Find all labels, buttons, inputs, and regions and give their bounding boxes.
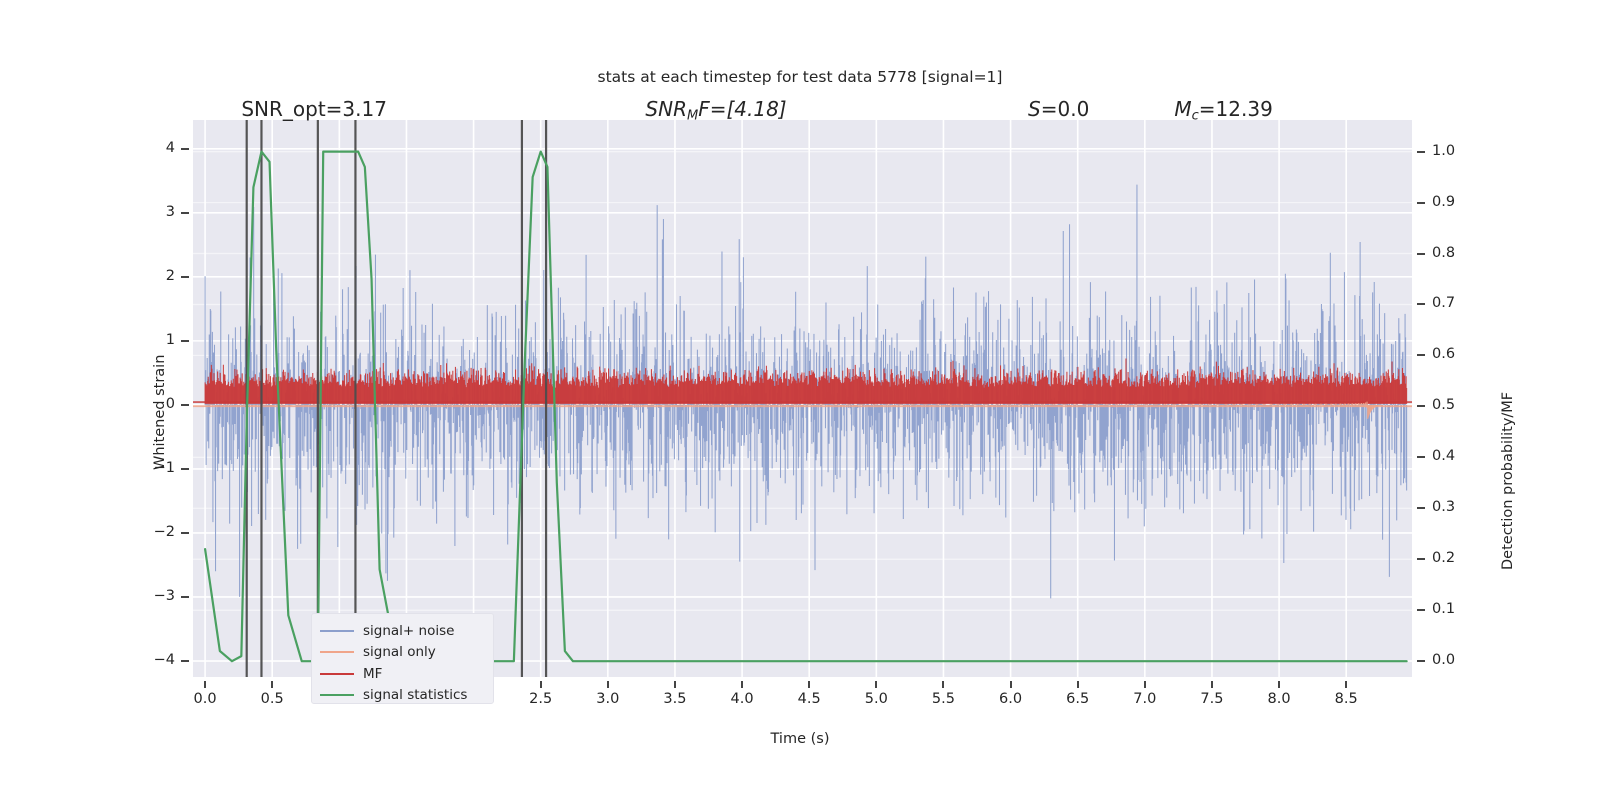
tick-mark	[181, 468, 189, 470]
annotation-snr-mf-prefix: SNR	[645, 97, 687, 121]
y-tick-label-right: 0.1	[1432, 601, 1472, 617]
tick-mark	[1417, 660, 1425, 662]
x-tick-label: 4.0	[717, 691, 767, 707]
annotation-s: S=0.0	[1028, 97, 1089, 121]
legend-swatch-signal-only	[320, 651, 354, 653]
annotation-mc-prefix: M	[1174, 97, 1191, 121]
tick-mark	[674, 681, 676, 688]
tick-mark	[181, 404, 189, 406]
y-tick-label-right: 0.8	[1432, 245, 1472, 261]
x-tick-label: 8.0	[1254, 691, 1304, 707]
tick-mark	[540, 681, 542, 688]
tick-mark	[1417, 202, 1425, 204]
plot-axes	[193, 120, 1412, 677]
data-layer	[193, 120, 1412, 677]
tick-mark	[181, 532, 189, 534]
tick-mark	[1417, 303, 1425, 305]
y-tick-label-right: 0.2	[1432, 550, 1472, 566]
tick-mark	[181, 276, 189, 278]
figure-root: stats at each timestep for test data 577…	[0, 0, 1600, 800]
tick-mark	[181, 340, 189, 342]
y-axis-label-left: Whitened strain	[152, 355, 168, 470]
annotation-snr-mf: SNRMF=[4.18]	[645, 97, 786, 124]
tick-mark	[204, 681, 206, 688]
tick-mark	[1278, 681, 1280, 688]
x-tick-label: 3.0	[583, 691, 633, 707]
x-tick-label: 0.0	[180, 691, 230, 707]
tick-mark	[875, 681, 877, 688]
legend-item: MF	[320, 663, 485, 685]
legend-label: signal+ noise	[363, 623, 454, 639]
annotation-mc-subscript: c	[1192, 109, 1199, 124]
tick-mark	[1211, 681, 1213, 688]
y-tick-label-left: −1	[141, 460, 175, 476]
x-tick-label: 0.5	[247, 691, 297, 707]
tick-mark	[1010, 681, 1012, 688]
legend-label: MF	[363, 666, 382, 682]
y-tick-label-left: 2	[141, 268, 175, 284]
x-tick-label: 5.0	[851, 691, 901, 707]
tick-mark	[741, 681, 743, 688]
x-tick-label: 3.5	[650, 691, 700, 707]
x-tick-label: 5.5	[918, 691, 968, 707]
annotation-snr-mf-suffix: F=[4.18]	[698, 97, 786, 121]
y-tick-label-right: 0.3	[1432, 499, 1472, 515]
tick-mark	[181, 596, 189, 598]
x-tick-label: 8.5	[1321, 691, 1371, 707]
x-tick-label: 7.0	[1120, 691, 1170, 707]
x-tick-label: 6.0	[986, 691, 1036, 707]
legend-swatch-signal-noise	[320, 630, 354, 632]
annotation-mc: Mc=12.39	[1174, 97, 1272, 124]
tick-mark	[1417, 405, 1425, 407]
x-tick-label: 7.5	[1187, 691, 1237, 707]
tick-mark	[1417, 507, 1425, 509]
y-tick-label-right: 0.0	[1432, 652, 1472, 668]
tick-mark	[607, 681, 609, 688]
tick-mark	[181, 660, 189, 662]
legend-label: signal statistics	[363, 687, 467, 703]
y-tick-label-left: 0	[141, 396, 175, 412]
legend-swatch-signal-statistics	[320, 694, 354, 696]
y-tick-label-left: −2	[141, 524, 175, 540]
y-tick-label-left: 1	[141, 332, 175, 348]
annotation-snr-mf-subscript: M	[687, 109, 698, 124]
tick-mark	[1417, 354, 1425, 356]
annotation-snr-opt: SNR_opt=3.17	[241, 97, 387, 121]
tick-mark	[1417, 456, 1425, 458]
legend-item: signal statistics	[320, 685, 485, 707]
y-tick-label-left: −3	[141, 588, 175, 604]
x-tick-label: 6.5	[1053, 691, 1103, 707]
y-tick-label-left: −4	[141, 652, 175, 668]
annotation-s-suffix: =0.0	[1041, 97, 1090, 121]
tick-mark	[1417, 253, 1425, 255]
tick-mark	[1417, 558, 1425, 560]
tick-mark	[1144, 681, 1146, 688]
legend: signal+ noise signal only MF signal stat…	[311, 613, 494, 704]
legend-swatch-mf	[320, 673, 354, 675]
tick-mark	[808, 681, 810, 688]
tick-mark	[1077, 681, 1079, 688]
tick-mark	[1417, 609, 1425, 611]
legend-label: signal only	[363, 644, 436, 660]
x-tick-label: 4.5	[784, 691, 834, 707]
tick-mark	[1417, 151, 1425, 153]
tick-mark	[942, 681, 944, 688]
x-axis-label: Time (s)	[0, 731, 1600, 747]
y-tick-label-right: 0.4	[1432, 448, 1472, 464]
tick-mark	[181, 212, 189, 214]
annotation-s-prefix: S	[1028, 97, 1041, 121]
y-tick-label-left: 3	[141, 204, 175, 220]
annotation-mc-suffix: =12.39	[1199, 97, 1273, 121]
legend-item: signal only	[320, 642, 485, 664]
tick-mark	[1345, 681, 1347, 688]
tick-mark	[271, 681, 273, 688]
y-tick-label-right: 1.0	[1432, 143, 1472, 159]
y-tick-label-right: 0.5	[1432, 397, 1472, 413]
y-tick-label-right: 0.6	[1432, 346, 1472, 362]
y-tick-label-right: 0.9	[1432, 194, 1472, 210]
y-tick-label-left: 4	[141, 140, 175, 156]
y-tick-label-right: 0.7	[1432, 295, 1472, 311]
x-tick-label: 2.5	[516, 691, 566, 707]
y-axis-label-right: Detection probability/MF	[1500, 392, 1516, 570]
tick-mark	[181, 148, 189, 150]
legend-item: signal+ noise	[320, 620, 485, 642]
page-title: stats at each timestep for test data 577…	[0, 68, 1600, 86]
